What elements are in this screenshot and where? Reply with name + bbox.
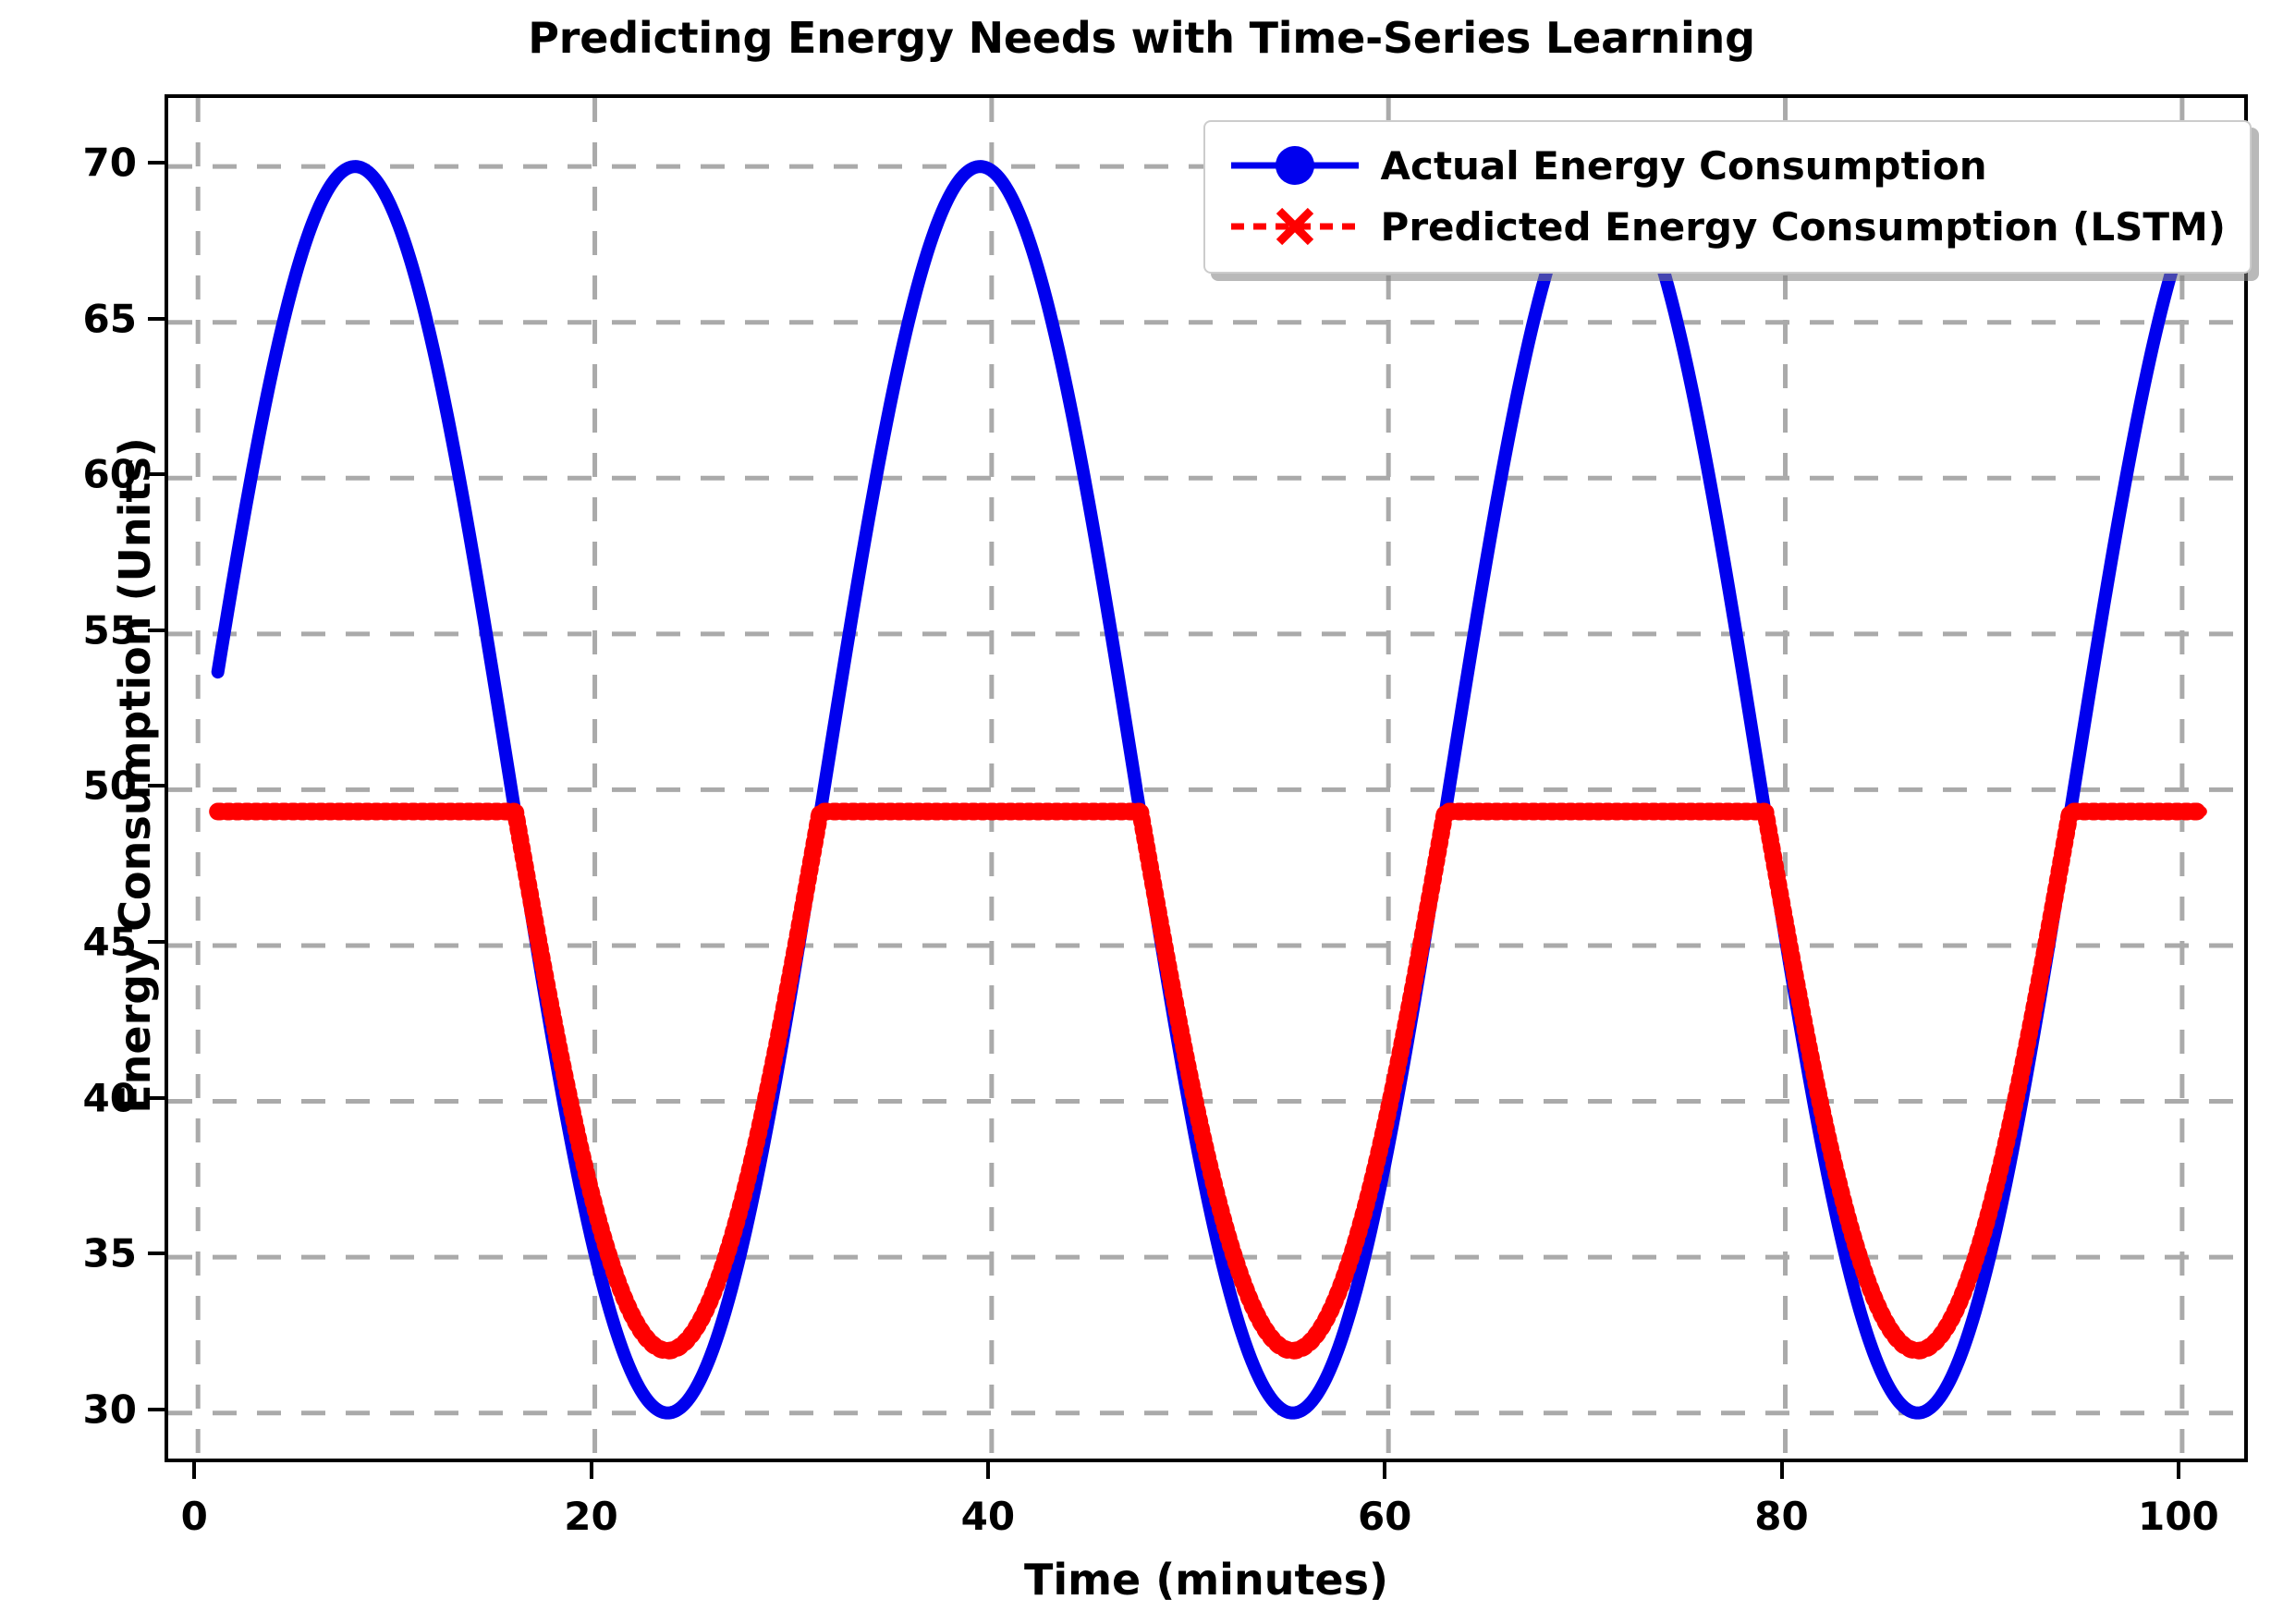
y-tick-label: 45 — [26, 919, 137, 964]
y-tick-mark — [148, 784, 165, 788]
y-tick-label: 30 — [26, 1386, 137, 1432]
y-tick-mark — [148, 317, 165, 321]
y-tick-label: 35 — [26, 1231, 137, 1276]
legend-marker-x-icon — [1226, 199, 1364, 254]
legend-item-actual[interactable]: Actual Energy Consumption — [1226, 135, 2226, 196]
legend-item-predicted[interactable]: Predicted Energy Consumption (LSTM) — [1226, 196, 2226, 257]
y-tick-mark — [148, 940, 165, 944]
legend-label-actual: Actual Energy Consumption — [1364, 143, 1987, 189]
y-tick-mark — [148, 1408, 165, 1411]
legend-marker-circle-icon — [1226, 138, 1364, 193]
plot-canvas — [168, 98, 2252, 1466]
x-tick-label: 80 — [1690, 1494, 1874, 1539]
x-axis-label: Time (minutes) — [165, 1555, 2248, 1605]
x-tick-label: 0 — [102, 1494, 287, 1539]
y-tick-mark — [148, 472, 165, 476]
y-tick-label: 50 — [26, 763, 137, 809]
plot-area — [165, 94, 2248, 1462]
legend-label-predicted: Predicted Energy Consumption (LSTM) — [1364, 204, 2226, 250]
y-tick-mark — [148, 629, 165, 632]
x-tick-label: 60 — [1292, 1494, 1477, 1539]
chart-title: Predicting Energy Needs with Time-Series… — [0, 13, 2283, 63]
x-tick-mark — [590, 1462, 593, 1479]
y-tick-mark — [148, 1096, 165, 1100]
y-tick-mark — [148, 1252, 165, 1255]
y-tick-label: 65 — [26, 296, 137, 341]
x-tick-label: 100 — [2086, 1494, 2271, 1539]
x-tick-mark — [192, 1462, 196, 1479]
y-tick-label: 40 — [26, 1075, 137, 1120]
x-tick-label: 40 — [896, 1494, 1080, 1539]
chart-legend[interactable]: Actual Energy Consumption Predicted Ener… — [1203, 120, 2252, 274]
y-tick-mark — [148, 161, 165, 165]
chart-figure: Predicting Energy Needs with Time-Series… — [0, 0, 2283, 1624]
gridlines — [168, 98, 2252, 1466]
y-tick-label: 60 — [26, 452, 137, 497]
x-tick-label: 20 — [499, 1494, 684, 1539]
x-tick-mark — [2177, 1462, 2180, 1479]
x-tick-mark — [1780, 1462, 1784, 1479]
y-tick-label: 70 — [26, 140, 137, 186]
x-tick-mark — [986, 1462, 990, 1479]
y-tick-label: 55 — [26, 607, 137, 653]
x-tick-mark — [1383, 1462, 1386, 1479]
